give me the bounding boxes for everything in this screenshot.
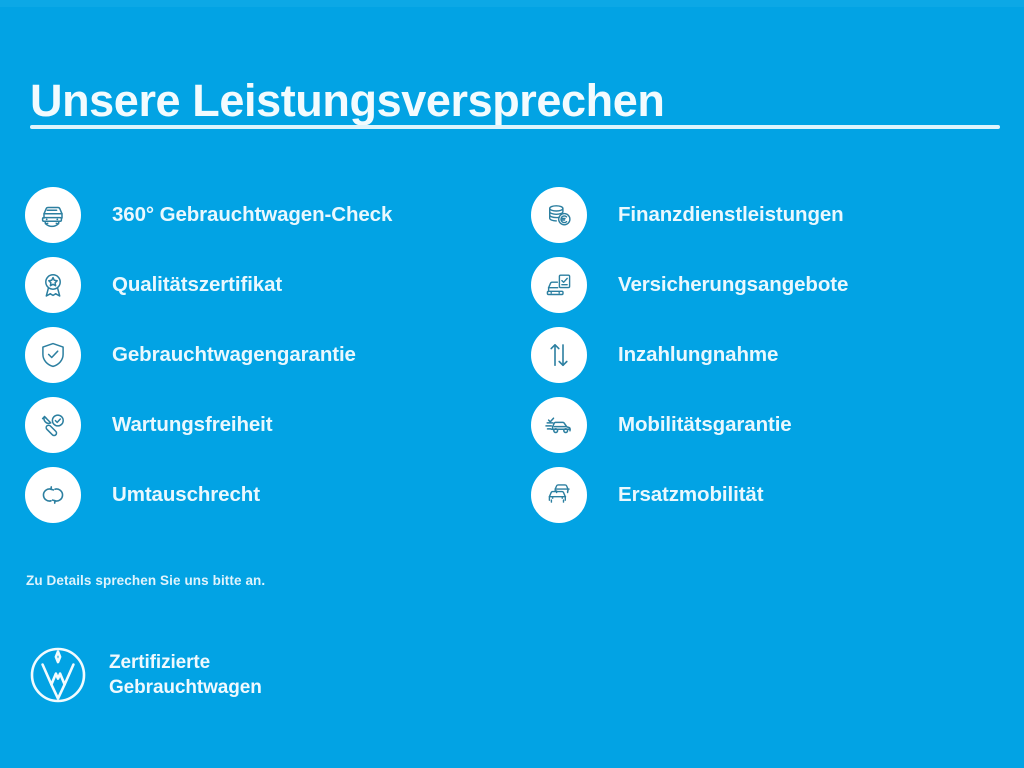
feature-label: Qualitätszertifikat	[112, 273, 282, 297]
feature-item-insurance-offers: Versicherungsangebote	[531, 250, 1024, 320]
feature-item-quality-certificate: Qualitätszertifikat	[25, 250, 531, 320]
feature-item-financial-services: Finanzdienstleistungen	[531, 180, 1024, 250]
feature-item-exchange-right: Umtauschrecht	[25, 460, 531, 530]
feature-item-replacement-mobility: Ersatzmobilität	[531, 460, 1024, 530]
feature-label: 360° Gebrauchtwagen-Check	[112, 203, 392, 227]
footnote-text: Zu Details sprechen Sie uns bitte an.	[26, 573, 265, 588]
feature-item-mobility-guarantee: Mobilitätsgarantie	[531, 390, 1024, 460]
arrows-up-down-icon	[531, 327, 587, 383]
shield-check-icon	[25, 327, 81, 383]
brand-label-line2: Gebrauchtwagen	[109, 677, 262, 698]
volkswagen-logo-icon	[29, 646, 87, 704]
page-title: Unsere Leistungsversprechen	[30, 74, 664, 128]
brand-label: Zertifizierte Gebrauchtwagen	[109, 650, 262, 700]
feature-label: Finanzdienstleistungen	[618, 203, 844, 227]
quality-rosette-icon	[25, 257, 81, 313]
feature-item-trade-in: Inzahlungnahme	[531, 320, 1024, 390]
feature-label: Versicherungsangebote	[618, 273, 848, 297]
feature-item-warranty: Gebrauchtwagengarantie	[25, 320, 531, 390]
two-cars-icon	[531, 467, 587, 523]
car-check-icon	[531, 397, 587, 453]
feature-item-360-check: 360° Gebrauchtwagen-Check	[25, 180, 531, 250]
top-accent-band	[0, 0, 1024, 7]
feature-grid: 360° Gebrauchtwagen-Check Qualitätszerti…	[0, 180, 1024, 530]
promo-poster: Unsere Leistungsversprechen 360° Gebrauc…	[0, 0, 1024, 768]
title-divider	[30, 125, 1000, 129]
coins-euro-icon	[531, 187, 587, 243]
feature-label: Gebrauchtwagengarantie	[112, 343, 356, 367]
feature-label: Inzahlungnahme	[618, 343, 778, 367]
car-document-check-icon	[531, 257, 587, 313]
brand-label-line1: Zertifizierte	[109, 652, 210, 673]
brand-lockup: Zertifizierte Gebrauchtwagen	[29, 646, 262, 704]
feature-label: Umtauschrecht	[112, 483, 260, 507]
car-360-check-icon	[25, 187, 81, 243]
feature-label: Wartungsfreiheit	[112, 413, 273, 437]
feature-item-maintenance-free: Wartungsfreiheit	[25, 390, 531, 460]
feature-label: Ersatzmobilität	[618, 483, 763, 507]
feature-label: Mobilitätsgarantie	[618, 413, 792, 437]
wrench-check-icon	[25, 397, 81, 453]
exchange-arrows-icon	[25, 467, 81, 523]
